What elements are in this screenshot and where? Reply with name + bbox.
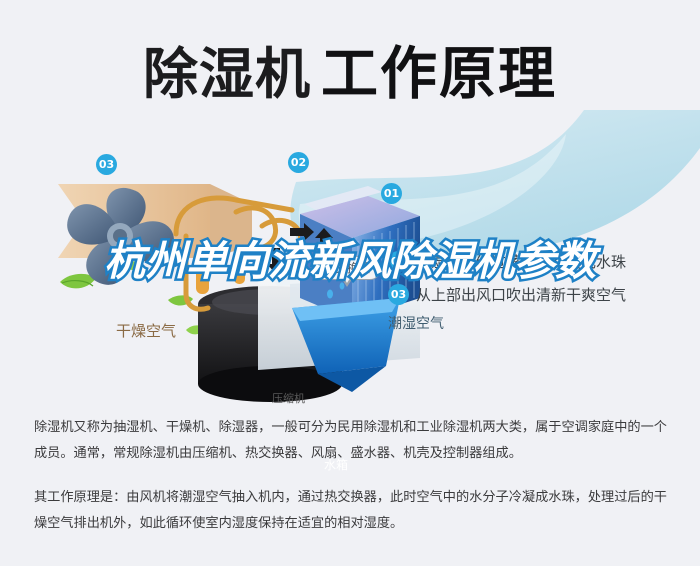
- body-paragraph-2: 其工作原理是：由风机将潮湿空气抽入机内，通过热交换器，此时空气中的水分子冷凝成水…: [34, 485, 670, 538]
- watermark-text: 杭州单向流新风除湿机参数: [104, 237, 596, 285]
- label-compressor: 压缩机: [272, 390, 305, 406]
- badge-01-illustration: 01: [381, 183, 402, 204]
- label-humid-air: 潮湿空气: [388, 313, 444, 333]
- page-title-part2: 工作原理: [321, 41, 557, 107]
- body-copy: 除湿机又称为抽湿机、干燥机、除湿器，一般可分为民用除湿机和工业除湿机两大类，属于…: [34, 415, 670, 538]
- badge-02-illustration: 02: [288, 152, 309, 173]
- watermark-overlay: 杭州单向流新风除湿机参数: [96, 240, 604, 282]
- page-title: 除湿机工作原理: [0, 28, 700, 110]
- poster-canvas: 除湿机工作原理: [0, 0, 700, 566]
- badge-03-legend: 03: [388, 284, 409, 305]
- page-title-part1: 除湿机: [143, 42, 311, 106]
- label-dry-air: 干燥空气: [116, 320, 176, 341]
- legend-text-03: 从上部出风口吹出清新干爽空气: [416, 284, 626, 305]
- body-paragraph-1: 除湿机又称为抽湿机、干燥机、除湿器，一般可分为民用除湿机和工业除湿机两大类，属于…: [34, 415, 670, 468]
- badge-03-illustration: 03: [96, 154, 117, 175]
